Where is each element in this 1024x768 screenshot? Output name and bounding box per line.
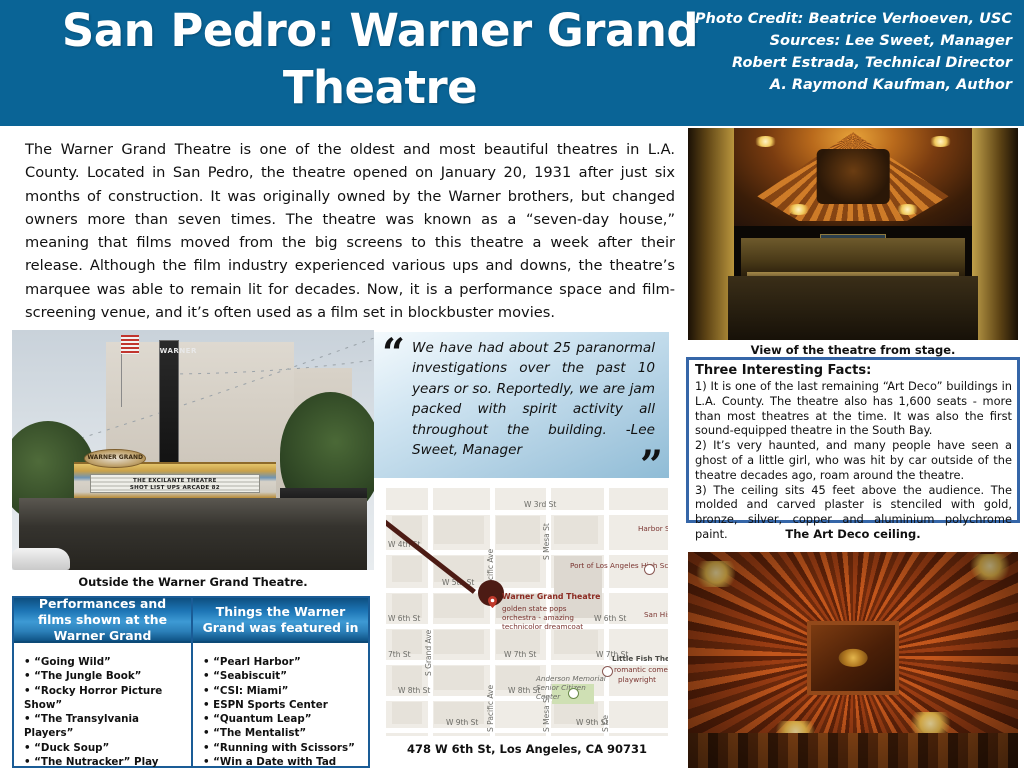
caption-art-deco-ceiling: The Art Deco ceiling. bbox=[688, 527, 1018, 541]
map-label-w3rd: W 3rd St bbox=[524, 500, 556, 509]
map-marker-title: Warner Grand Theatre bbox=[502, 592, 600, 601]
map-parcel bbox=[496, 556, 540, 582]
fact-item-1: 1) It is one of the last remaining “Art … bbox=[695, 379, 1012, 438]
map-poi-label: San Histo bbox=[644, 610, 668, 619]
interior-balcony bbox=[741, 238, 965, 276]
exterior-storefront-row bbox=[19, 498, 367, 570]
map-road-sgrand bbox=[428, 488, 433, 736]
table-body-performances: • “Going Wild” • “The Jungle Book” • “Ro… bbox=[14, 643, 191, 768]
list-item: • “CSI: Miami” bbox=[203, 684, 364, 698]
map-pin-icon[interactable] bbox=[488, 596, 497, 608]
interior-orchestra-seating bbox=[728, 276, 979, 340]
map-poi-marker-school[interactable] bbox=[644, 564, 655, 575]
ceiling-vignette bbox=[688, 552, 1018, 768]
page-title: San Pedro: Warner Grand Theatre bbox=[60, 2, 700, 116]
map-parcel bbox=[554, 630, 598, 654]
list-item: • “Going Wild” bbox=[24, 655, 187, 669]
list-item: • “Quantum Leap” bbox=[203, 712, 364, 726]
map-poi-label: romantic comed bbox=[614, 665, 668, 674]
facts-body: 1) It is one of the last remaining “Art … bbox=[695, 379, 1012, 542]
map-marker-sub1: golden state pops bbox=[502, 604, 567, 613]
interior-lamp-right bbox=[929, 136, 952, 147]
map-parcel bbox=[434, 630, 484, 654]
exterior-parked-car bbox=[12, 548, 70, 570]
photo-art-deco-ceiling bbox=[688, 552, 1018, 768]
map-address-caption: 478 W 6th St, Los Angeles, CA 90731 bbox=[386, 742, 668, 756]
facts-title: Three Interesting Facts: bbox=[695, 363, 1012, 379]
map-label-w8th-left: W 8th St bbox=[398, 686, 430, 695]
credit-line-3: Robert Estrada, Technical Director bbox=[682, 52, 1012, 74]
fact-item-2: 2) It’s very haunted, and many people ha… bbox=[695, 438, 1012, 482]
exterior-oval-sign: WARNER GRAND bbox=[84, 449, 146, 468]
map-poi-label: playwright bbox=[618, 675, 656, 684]
map-label-sgrand: S Grand Ave bbox=[424, 630, 433, 676]
interior-wall-right bbox=[972, 128, 1018, 340]
photo-theatre-exterior: WARNER THE EXCILANTE THEATRE SHOT LIST U… bbox=[12, 330, 374, 570]
list-item: • “Win a Date with Tad Hamilton!” bbox=[203, 755, 364, 768]
list-item: • “The Transylvania Players” bbox=[24, 712, 187, 741]
table-header-featured: Things the Warner Grand was featured in bbox=[193, 598, 368, 643]
map-poi-label: Harbor Shoppi bbox=[638, 524, 668, 533]
map-marker-callout: Warner Grand Theatre bbox=[502, 592, 600, 601]
poster-canvas: San Pedro: Warner Grand Theatre Photo Cr… bbox=[0, 0, 1024, 768]
map-poi-san-histo: San Histo bbox=[644, 610, 668, 619]
table-body-featured: • “Pearl Harbor” • “Seabiscuit” • “CSI: … bbox=[193, 643, 368, 768]
credit-line-4: A. Raymond Kaufman, Author bbox=[682, 74, 1012, 96]
map-parcel bbox=[554, 516, 598, 544]
interior-lamp-lower-right bbox=[896, 204, 919, 215]
map-label-w6th-right: W 6th St bbox=[594, 614, 626, 623]
map-marker-sub2: orchestra - amazing bbox=[502, 613, 574, 622]
interior-medallion bbox=[817, 149, 890, 204]
map-label-w7th-mid: W 7th St bbox=[504, 650, 536, 659]
oval-sign-text: WARNER GRAND bbox=[85, 454, 145, 461]
map-label-7th: 7th St bbox=[388, 650, 411, 659]
map-poi-little-fish: Little Fish The bbox=[612, 654, 668, 663]
map-parcel bbox=[392, 702, 422, 724]
quote-open-mark: “ bbox=[382, 334, 405, 374]
credits-block: Photo Credit: Beatrice Verhoeven, USC So… bbox=[682, 8, 1012, 96]
map-parcel bbox=[434, 666, 484, 690]
map-poi-label: Little Fish The bbox=[612, 654, 668, 663]
caption-theatre-exterior: Outside the Warner Grand Theatre. bbox=[12, 575, 374, 589]
map-poi-playwright: playwright bbox=[618, 675, 656, 684]
map-label-w9th-left: W 9th St bbox=[446, 718, 478, 727]
list-item: • ESPN Sports Center bbox=[203, 698, 364, 712]
info-tables: Performances and films shown at the Warn… bbox=[12, 596, 370, 768]
quote-close-mark: ” bbox=[640, 446, 663, 486]
map-poi-marker-park[interactable] bbox=[568, 688, 579, 699]
list-item: • “The Jungle Book” bbox=[24, 669, 187, 683]
caption-theatre-interior: View of the theatre from stage. bbox=[688, 343, 1018, 357]
list-item: • “Seabiscuit” bbox=[203, 669, 364, 683]
credit-line-2: Sources: Lee Sweet, Manager bbox=[682, 30, 1012, 52]
map-parcel bbox=[434, 594, 484, 618]
interior-lamp-lower-left bbox=[787, 204, 810, 215]
three-interesting-facts-box: Three Interesting Facts: 1) It is one of… bbox=[686, 357, 1020, 523]
header-banner: San Pedro: Warner Grand Theatre Photo Cr… bbox=[0, 0, 1024, 126]
list-item: • “Pearl Harbor” bbox=[203, 655, 364, 669]
list-item: • “The Mentalist” bbox=[203, 726, 364, 740]
table-column-performances: Performances and films shown at the Warn… bbox=[14, 598, 191, 766]
pull-quote-box: “ We have had about 25 paranormal invest… bbox=[374, 332, 669, 478]
quote-text: We have had about 25 paranormal investig… bbox=[412, 338, 655, 460]
marquee-line-2: SHOT LIST UPS ARCADE 82 bbox=[101, 484, 249, 492]
photo-theatre-interior bbox=[688, 128, 1018, 340]
marquee-letterboard: THE EXCILANTE THEATRE SHOT LIST UPS ARCA… bbox=[90, 474, 260, 493]
list-item: • “The Nutracker” Play bbox=[24, 755, 187, 768]
exterior-vertical-blade-sign: WARNER bbox=[159, 340, 179, 474]
list-item: • “Running with Scissors” bbox=[203, 741, 364, 755]
map-poi-romantic-comedy: romantic comed bbox=[614, 665, 668, 674]
list-item: • “Rocky Horror Picture Show” bbox=[24, 684, 187, 713]
map-parcel bbox=[434, 516, 484, 544]
map-label-smesa-n: S Mesa St bbox=[542, 523, 551, 560]
table-header-performances: Performances and films shown at the Warn… bbox=[14, 598, 191, 643]
map-label-spacific-s: S Pacific Ave bbox=[486, 685, 495, 732]
intro-paragraph: The Warner Grand Theatre is one of the o… bbox=[25, 138, 675, 324]
map-parcel bbox=[392, 556, 422, 582]
map-poi-harbor-shopping: Harbor Shoppi bbox=[638, 524, 668, 533]
table-column-featured: Things the Warner Grand was featured in … bbox=[191, 598, 368, 766]
credit-line-1: Photo Credit: Beatrice Verhoeven, USC bbox=[682, 8, 1012, 30]
map-label-w6th-left: W 6th St bbox=[388, 614, 420, 623]
list-item: • “Duck Soup” bbox=[24, 741, 187, 755]
exterior-marquee: THE EXCILANTE THEATRE SHOT LIST UPS ARCA… bbox=[74, 462, 277, 503]
location-map[interactable]: W 3rd St W 4th St W 5th St W 6th St W 6t… bbox=[386, 488, 668, 736]
map-label-sce: S Ce bbox=[601, 715, 610, 732]
blade-sign-text: WARNER bbox=[160, 347, 178, 356]
map-marker-sub3: technicolor dreamcoat bbox=[502, 622, 583, 631]
map-parcel bbox=[496, 516, 540, 544]
